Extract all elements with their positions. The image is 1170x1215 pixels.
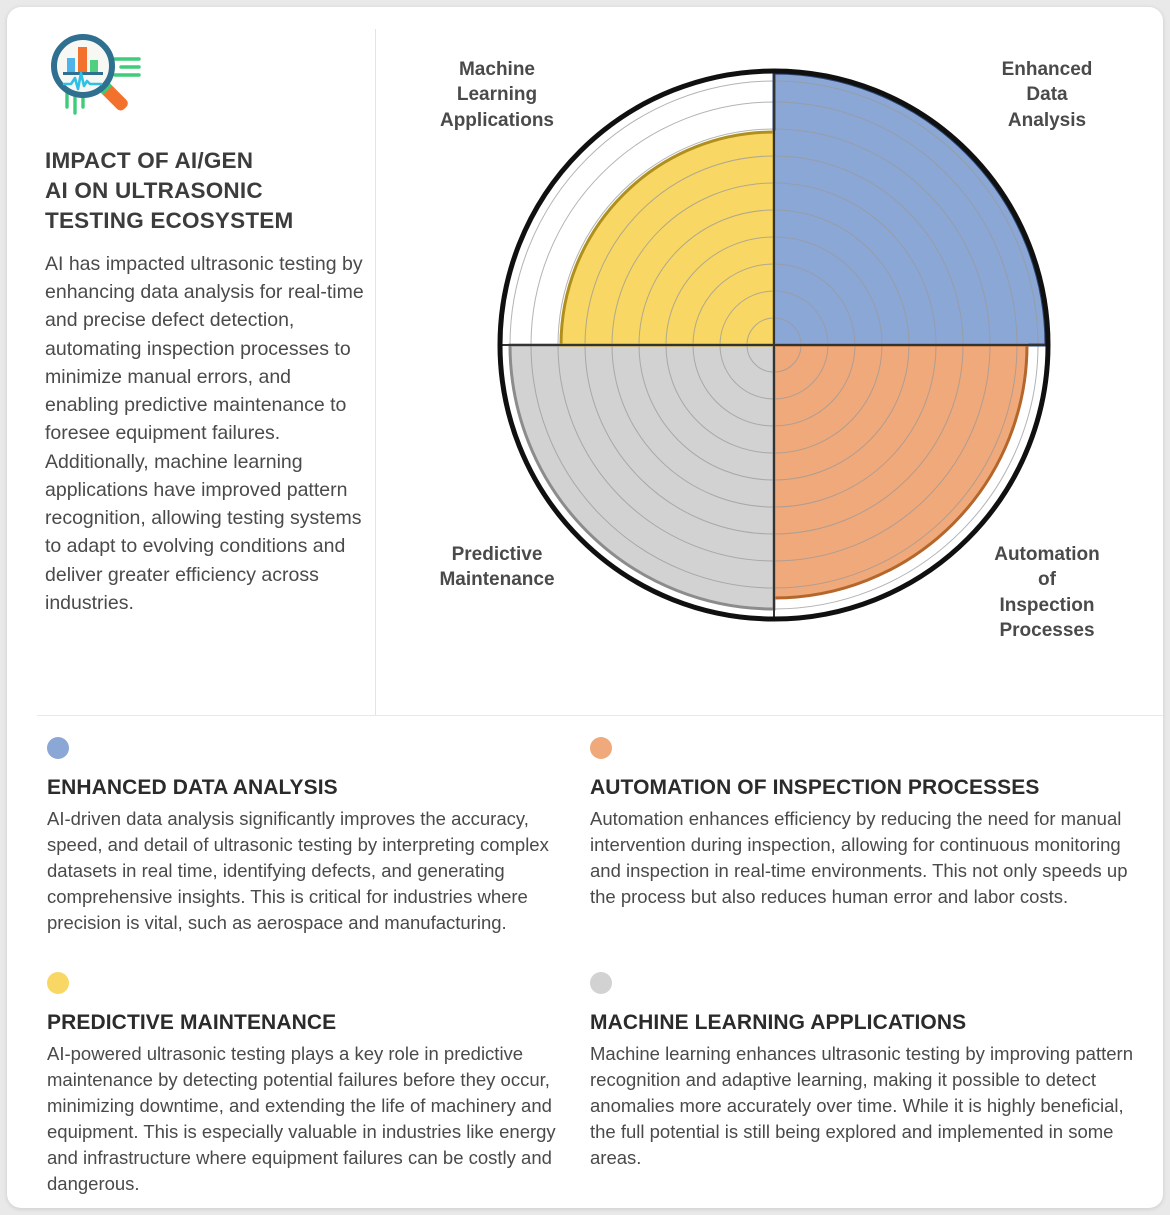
detail-title: ENHANCED DATA ANALYSIS: [47, 776, 559, 800]
vertical-divider: [375, 29, 376, 715]
detail-card-automation-of-inspection-processes: AUTOMATION OF INSPECTION PROCESSES Autom…: [590, 737, 1135, 910]
chart-label-automation-of-inspection: Automation of Inspection Processes: [952, 542, 1142, 643]
detail-title: MACHINE LEARNING APPLICATIONS: [590, 1011, 1135, 1035]
legend-dot-enhanced-data-analysis: [47, 737, 69, 759]
detail-card-enhanced-data-analysis: ENHANCED DATA ANALYSIS AI-driven data an…: [47, 737, 559, 936]
chart-label-enhanced-data-analysis: Enhanced Data Analysis: [952, 57, 1142, 133]
infographic-card: IMPACT OF AI/GEN AI ON ULTRASONIC TESTIN…: [7, 7, 1163, 1208]
detail-body: Automation enhances efficiency by reduci…: [590, 806, 1135, 910]
legend-dot-predictive-maintenance: [47, 972, 69, 994]
detail-card-predictive-maintenance: PREDICTIVE MAINTENANCE AI-powered ultras…: [47, 972, 559, 1196]
horizontal-divider: [37, 715, 1163, 716]
detail-cards-grid: ENHANCED DATA ANALYSIS AI-driven data an…: [7, 723, 1163, 1208]
chart-label-machine-learning-applications: Machine Learning Applications: [402, 57, 592, 133]
detail-title: AUTOMATION OF INSPECTION PROCESSES: [590, 776, 1135, 800]
intro-panel: IMPACT OF AI/GEN AI ON ULTRASONIC TESTIN…: [45, 33, 365, 617]
legend-dot-automation-of-inspection-processes: [590, 737, 612, 759]
polar-area-chart: Machine Learning Applications Enhanced D…: [382, 7, 1163, 715]
legend-dot-machine-learning-applications: [590, 972, 612, 994]
detail-body: AI-powered ultrasonic testing plays a ke…: [47, 1041, 559, 1196]
detail-body: Machine learning enhances ultrasonic tes…: [590, 1041, 1135, 1170]
chart-label-predictive-maintenance: Predictive Maintenance: [402, 542, 592, 593]
detail-title: PREDICTIVE MAINTENANCE: [47, 1011, 559, 1035]
magnifier-analytics-icon: [45, 33, 157, 125]
intro-paragraph: AI has impacted ultrasonic testing by en…: [45, 250, 365, 617]
page-title: IMPACT OF AI/GEN AI ON ULTRASONIC TESTIN…: [45, 146, 365, 236]
detail-card-machine-learning-applications: MACHINE LEARNING APPLICATIONS Machine le…: [590, 972, 1135, 1171]
detail-body: AI-driven data analysis significantly im…: [47, 806, 559, 935]
top-section: IMPACT OF AI/GEN AI ON ULTRASONIC TESTIN…: [7, 7, 1163, 715]
